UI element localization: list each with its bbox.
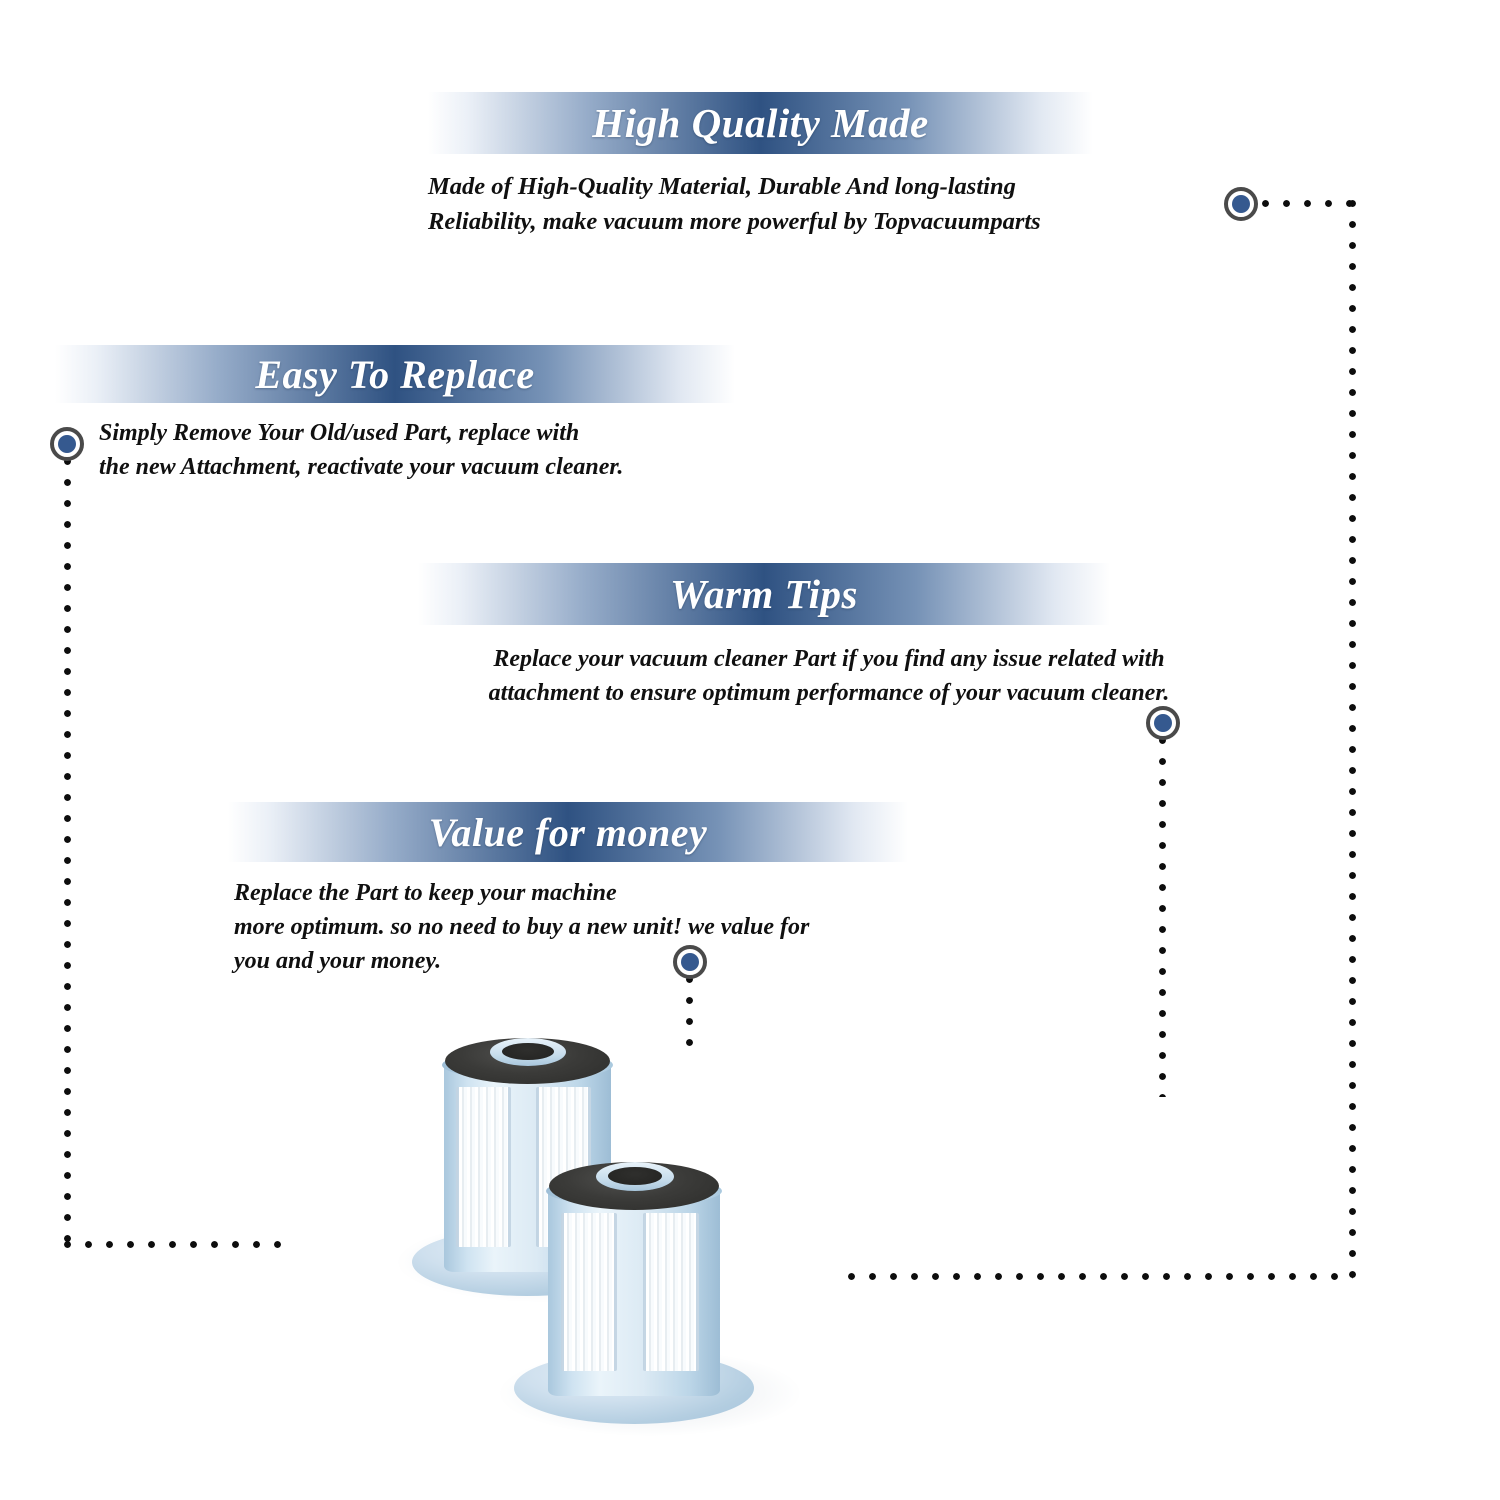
filter-pleat-front-right [643, 1213, 699, 1371]
filter-inlet-hole-front [608, 1167, 662, 1185]
filter-pleat-front-left [561, 1213, 617, 1371]
connector-high-quality-horizontal-top [1262, 200, 1357, 207]
filter-inlet-hole-back [502, 1043, 554, 1060]
connector-warm-tips-vertical [1159, 737, 1166, 1097]
banner-title-high-quality-made: High Quality Made [592, 99, 929, 147]
connector-easy-replace-vertical-left [64, 458, 71, 1248]
marker-value-for-money[interactable] [673, 945, 707, 979]
marker-warm-tips[interactable] [1146, 706, 1180, 740]
filter-pleat-back-left [456, 1087, 511, 1247]
banner-high-quality-made: High Quality Made [428, 92, 1093, 154]
body-text-easy-to-replace: Simply Remove Your Old/used Part, replac… [99, 416, 799, 484]
body-text-value-for-money: Replace the Part to keep your machine mo… [234, 876, 974, 978]
connector-high-quality-vertical-right [1349, 200, 1356, 1280]
marker-easy-to-replace[interactable] [50, 427, 84, 461]
banner-easy-to-replace: Easy To Replace [55, 345, 735, 403]
product-image-vacuum-filters [390, 1010, 790, 1440]
banner-title-easy-to-replace: Easy To Replace [255, 351, 534, 398]
infographic-canvas: High Quality Made Made of High-Quality M… [0, 0, 1500, 1500]
connector-high-quality-horizontal-bottom [848, 1273, 1353, 1280]
filter-body-front [548, 1188, 720, 1396]
connector-easy-replace-horizontal-bottom [64, 1241, 294, 1248]
banner-warm-tips: Warm Tips [418, 563, 1110, 625]
banner-title-warm-tips: Warm Tips [670, 570, 858, 618]
body-text-high-quality-made: Made of High-Quality Material, Durable A… [428, 170, 1168, 240]
banner-value-for-money: Value for money [228, 802, 908, 862]
body-text-warm-tips: Replace your vacuum cleaner Part if you … [404, 642, 1254, 710]
marker-high-quality-made[interactable] [1224, 187, 1258, 221]
banner-title-value-for-money: Value for money [429, 809, 708, 856]
